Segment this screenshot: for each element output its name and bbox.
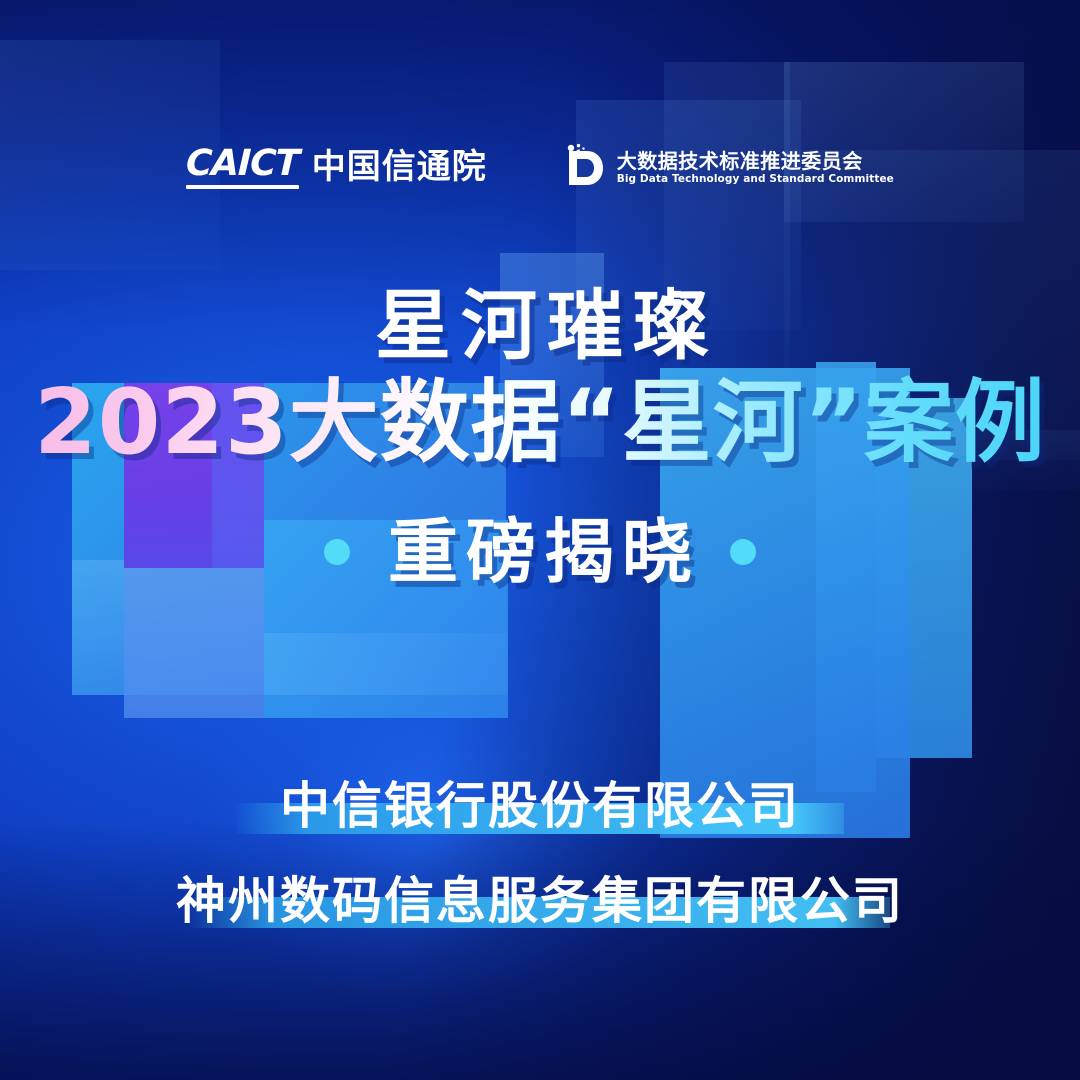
company-list: 中信银行股份有限公司 神州数码信息服务集团有限公司 — [0, 775, 1080, 932]
letter-d-icon — [561, 143, 605, 193]
company-name-1: 中信银行股份有限公司 — [0, 775, 1080, 838]
poster-canvas: CAICT 中国信通院 大数据技术标准推进委员会 Big Data Techno… — [0, 0, 1080, 1080]
caict-underline-rule — [186, 185, 299, 189]
committee-english-name: Big Data Technology and Standard Committ… — [617, 174, 894, 185]
company-name-2: 神州数码信息服务集团有限公司 — [0, 870, 1080, 933]
caict-acronym: CAICT — [185, 146, 299, 182]
bullet-dot-left-icon — [324, 539, 350, 565]
committee-chinese-name: 大数据技术标准推进委员会 — [617, 151, 894, 171]
title-line-3-row: 重磅揭晓 — [0, 514, 1080, 591]
caict-wordmark: CAICT — [186, 146, 299, 191]
bullet-dot-right-icon — [730, 539, 756, 565]
title-line-1: 星河璀璨 — [0, 285, 1080, 367]
caict-chinese-name: 中国信通院 — [312, 150, 487, 191]
big-data-committee-text: 大数据技术标准推进委员会 Big Data Technology and Sta… — [617, 151, 894, 185]
title-line-3: 重磅揭晓 — [380, 514, 700, 591]
title-block: 星河璀璨 2023大数据“星河”案例 重磅揭晓 — [0, 285, 1080, 591]
company-name-1-text: 中信银行股份有限公司 — [280, 775, 800, 838]
caict-logo: CAICT 中国信通院 — [186, 146, 487, 191]
title-line-2: 2023大数据“星河”案例 — [0, 373, 1080, 474]
logo-header: CAICT 中国信通院 大数据技术标准推进委员会 Big Data Techno… — [0, 139, 1080, 197]
decorative-rectangle-left-lower-highlight — [264, 633, 508, 695]
big-data-committee-logo: 大数据技术标准推进委员会 Big Data Technology and Sta… — [561, 143, 894, 193]
company-name-2-text: 神州数码信息服务集团有限公司 — [176, 870, 904, 933]
